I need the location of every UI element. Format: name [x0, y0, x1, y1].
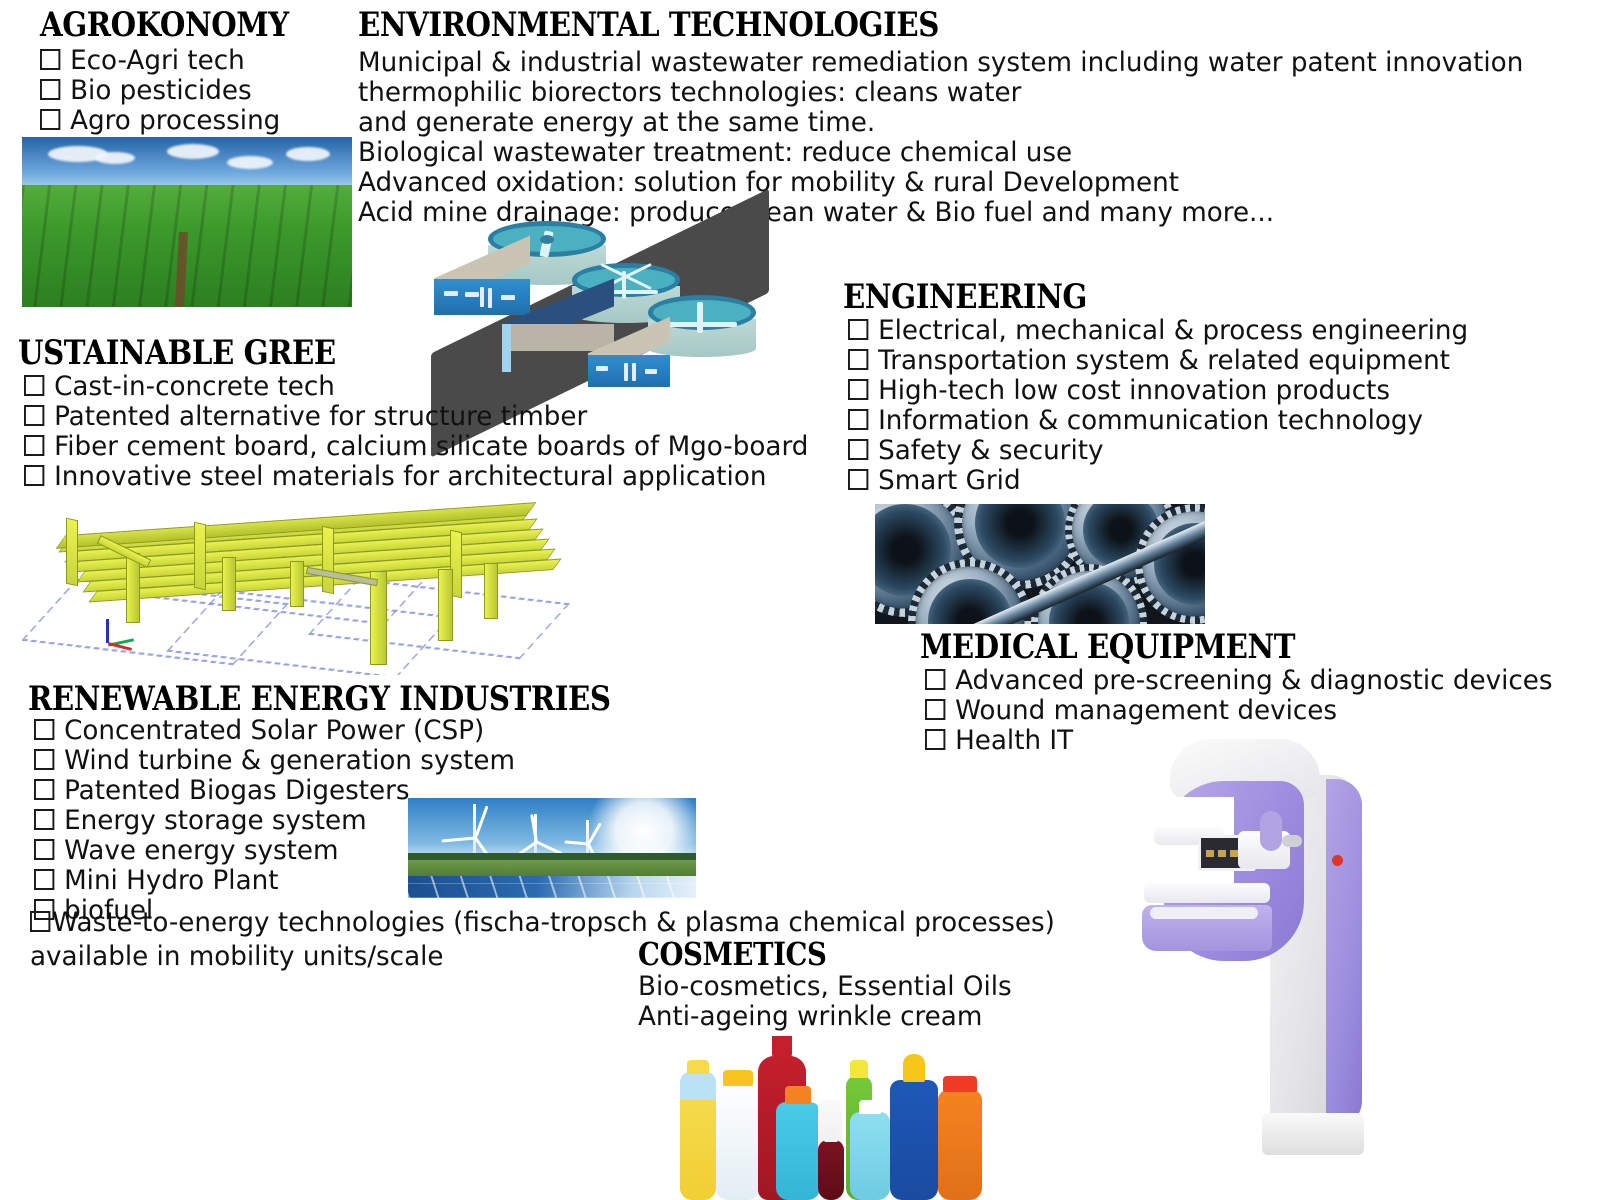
- ren-item-5: Mini Hydro Plant: [64, 865, 278, 896]
- machine-column-trim: [1326, 779, 1362, 1127]
- list-item: Advanced pre-screening & diagnostic devi…: [925, 666, 1553, 696]
- screen-cell: [1230, 850, 1238, 857]
- waste-note: available in mobility units/scale: [30, 942, 1055, 972]
- wind-turbine-icon: [452, 804, 496, 860]
- env-line-3: Biological wastewater treatment: reduce …: [358, 138, 1523, 168]
- cosmetic-bottles-photo: [672, 1036, 992, 1200]
- bottle-cap: [823, 1088, 837, 1100]
- power-led-icon: [1332, 855, 1343, 866]
- window: [502, 336, 511, 348]
- support-post: [438, 569, 453, 641]
- env-line-0: Municipal & industrial wastewater remedi…: [358, 48, 1523, 78]
- bottle-cap: [687, 1060, 709, 1074]
- screen-cell: [1218, 850, 1226, 857]
- checkbox-icon: [30, 911, 50, 932]
- bottle-cap: [943, 1076, 977, 1092]
- purlin: [322, 526, 334, 595]
- timber-canopy-cad-render: [22, 495, 582, 675]
- cloud-icon: [227, 156, 273, 169]
- cosmetics-heading: COSMETICS: [638, 938, 826, 970]
- list-item: High-tech low cost innovation products: [848, 376, 1468, 406]
- bottle: [938, 1090, 982, 1200]
- keypad: [1260, 811, 1282, 851]
- med-item-2: Health IT: [955, 725, 1073, 756]
- eng-item-3: Information & communication technology: [878, 405, 1423, 436]
- window: [444, 291, 458, 296]
- ren-item-3: Energy storage system: [64, 805, 367, 836]
- turbine-blade: [441, 837, 475, 843]
- window: [502, 360, 511, 372]
- checkbox-icon: [848, 349, 868, 370]
- list-item: Smart Grid: [848, 466, 1468, 496]
- window: [502, 324, 511, 336]
- bottle-cap: [772, 1036, 792, 1058]
- checkbox-icon: [848, 319, 868, 340]
- list-item: Electrical, mechanical & process enginee…: [848, 316, 1468, 346]
- eng-item-0: Electrical, mechanical & process enginee…: [878, 315, 1468, 346]
- list-item: Safety & security: [848, 436, 1468, 466]
- sustainable-green-heading: USTAINABLE GREEN: [18, 336, 336, 370]
- environmental-technologies-body: Municipal & industrial wastewater remedi…: [358, 48, 1559, 228]
- list-item: Agro processing: [40, 106, 280, 136]
- list-item: Patented alternative for structure timbe…: [24, 402, 808, 432]
- tank-hub: [540, 235, 554, 244]
- bottle-cap: [723, 1070, 753, 1086]
- purlin: [194, 522, 206, 591]
- renewable-energy-heading: RENEWABLE ENERGY INDUSTRIES: [28, 682, 611, 716]
- env-line-1: thermophilic biorectors technologies: cl…: [358, 78, 1523, 108]
- engineering-heading: ENGINEERING: [843, 280, 1087, 314]
- screen-cell: [1206, 850, 1214, 857]
- window: [488, 288, 492, 308]
- checkbox-icon: [40, 49, 60, 70]
- list-item: Wound management devices: [925, 696, 1553, 726]
- checkbox-icon: [925, 729, 945, 750]
- list-item: Eco-Agri tech: [40, 46, 280, 76]
- checkbox-icon: [24, 405, 44, 426]
- list-item: Concentrated Solar Power (CSP): [34, 716, 515, 746]
- waste-item-text: Waste-to-energy technologies (fischa-tro…: [52, 907, 1055, 938]
- bottle-cap: [903, 1054, 925, 1082]
- checkbox-icon: [34, 869, 54, 890]
- cosmetics-line-0: Bio-cosmetics, Essential Oils: [638, 972, 1012, 1002]
- agrokonomy-item-1: Bio pesticides: [70, 75, 252, 106]
- checkbox-icon: [848, 439, 868, 460]
- cloud-icon: [167, 144, 219, 159]
- cosmetics-body: Bio-cosmetics, Essential Oils Anti-agein…: [638, 972, 1023, 1032]
- checkbox-icon: [24, 465, 44, 486]
- agrokonomy-item-2: Agro processing: [70, 105, 280, 136]
- med-item-1: Wound management devices: [955, 695, 1337, 726]
- medical-equipment-heading: MEDICAL EQUIPMENT: [920, 630, 1295, 664]
- window: [480, 287, 484, 307]
- eng-item-4: Safety & security: [878, 435, 1103, 466]
- detector-surface: [1150, 907, 1258, 919]
- list-item: Information & communication technology: [848, 406, 1468, 436]
- window: [502, 348, 511, 360]
- med-item-0: Advanced pre-screening & diagnostic devi…: [955, 665, 1552, 696]
- agrokonomy-item-0: Eco-Agri tech: [70, 45, 245, 76]
- environmental-technologies-heading: ENVIRONMENTAL TECHNOLOGIES: [358, 8, 939, 42]
- sg-item-3: Innovative steel materials for architect…: [54, 461, 766, 492]
- solar-panel-array: [408, 876, 696, 898]
- ren-item-1: Wind turbine & generation system: [64, 745, 515, 776]
- ren-item-2: Patented Biogas Digesters: [64, 775, 410, 806]
- eng-item-1: Transportation system & related equipmen…: [878, 345, 1450, 376]
- checkbox-icon: [40, 109, 60, 130]
- bottle-cap: [785, 1086, 811, 1104]
- sg-item-1: Patented alternative for structure timbe…: [54, 401, 587, 432]
- handle-knob: [1282, 835, 1302, 847]
- agrokonomy-heading: AGROKONOMY: [40, 8, 289, 42]
- eng-item-5: Smart Grid: [878, 465, 1021, 496]
- list-item: Fiber cement board, calcium silicate boa…: [24, 432, 808, 462]
- checkbox-icon: [24, 435, 44, 456]
- checkbox-icon: [848, 469, 868, 490]
- support-post: [290, 561, 304, 607]
- agrokonomy-list: Eco-Agri tech Bio pesticides Agro proces…: [40, 46, 288, 136]
- cosmetics-line-1: Anti-ageing wrinkle cream: [638, 1002, 1012, 1032]
- list-item: Innovative steel materials for architect…: [24, 462, 808, 492]
- turbine-blade: [474, 806, 488, 839]
- sg-item-0: Cast-in-concrete tech: [54, 371, 335, 402]
- checkbox-icon: [34, 749, 54, 770]
- bottle: [680, 1072, 716, 1200]
- list-item: Cast-in-concrete tech: [24, 372, 808, 402]
- waste-item-row: Waste-to-energy technologies (fischa-tro…: [30, 908, 1055, 938]
- wind-turbines-solar-panels-photo: [408, 798, 696, 898]
- metal-gears-photo: [875, 504, 1205, 624]
- mammography-machine-photo: [1120, 735, 1420, 1155]
- checkbox-icon: [34, 779, 54, 800]
- window: [501, 295, 515, 300]
- bottle: [890, 1080, 938, 1200]
- tank-spoke: [697, 302, 703, 333]
- bottle: [818, 1140, 844, 1200]
- checkbox-icon: [925, 699, 945, 720]
- ren-item-0: Concentrated Solar Power (CSP): [64, 715, 484, 746]
- bottle-cap: [859, 1100, 881, 1114]
- waste-to-energy-line: Waste-to-energy technologies (fischa-tro…: [30, 908, 1087, 972]
- bottle: [716, 1084, 760, 1200]
- compression-paddle: [1144, 883, 1270, 903]
- checkbox-icon: [848, 379, 868, 400]
- support-post: [484, 563, 498, 619]
- env-line-4: Advanced oxidation: solution for mobilit…: [358, 168, 1523, 198]
- checkbox-icon: [34, 719, 54, 740]
- ren-item-4: Wave energy system: [64, 835, 338, 866]
- checkbox-icon: [34, 809, 54, 830]
- sustainable-green-list: Cast-in-concrete tech Patented alternati…: [24, 372, 833, 492]
- bottle-cap: [850, 1060, 868, 1078]
- turbine-blade: [587, 822, 602, 844]
- agricultural-field-photo: [22, 137, 352, 307]
- checkbox-icon: [925, 669, 945, 690]
- checkbox-icon: [40, 79, 60, 100]
- bottle: [776, 1102, 820, 1200]
- checkbox-icon: [848, 409, 868, 430]
- list-item: Wind turbine & generation system: [34, 746, 515, 776]
- sg-item-2: Fiber cement board, calcium silicate boa…: [54, 431, 808, 462]
- env-line-2: and generate energy at the same time.: [358, 108, 1523, 138]
- support-post: [222, 557, 236, 611]
- machine-base: [1262, 1113, 1364, 1155]
- list-item: Transportation system & related equipmen…: [848, 346, 1468, 376]
- poster-canvas: AGROKONOMY Eco-Agri tech Bio pesticides …: [0, 0, 1600, 1200]
- engineering-list: Electrical, mechanical & process enginee…: [848, 316, 1487, 496]
- eng-item-2: High-tech low cost innovation products: [878, 375, 1390, 406]
- checkbox-icon: [34, 839, 54, 860]
- purlin: [66, 518, 78, 587]
- axis-z: [106, 619, 109, 643]
- window: [465, 292, 479, 297]
- checkbox-icon: [24, 375, 44, 396]
- list-item: Bio pesticides: [40, 76, 280, 106]
- window: [596, 366, 608, 371]
- bottle-cap: [824, 1126, 838, 1142]
- bottle: [850, 1112, 890, 1200]
